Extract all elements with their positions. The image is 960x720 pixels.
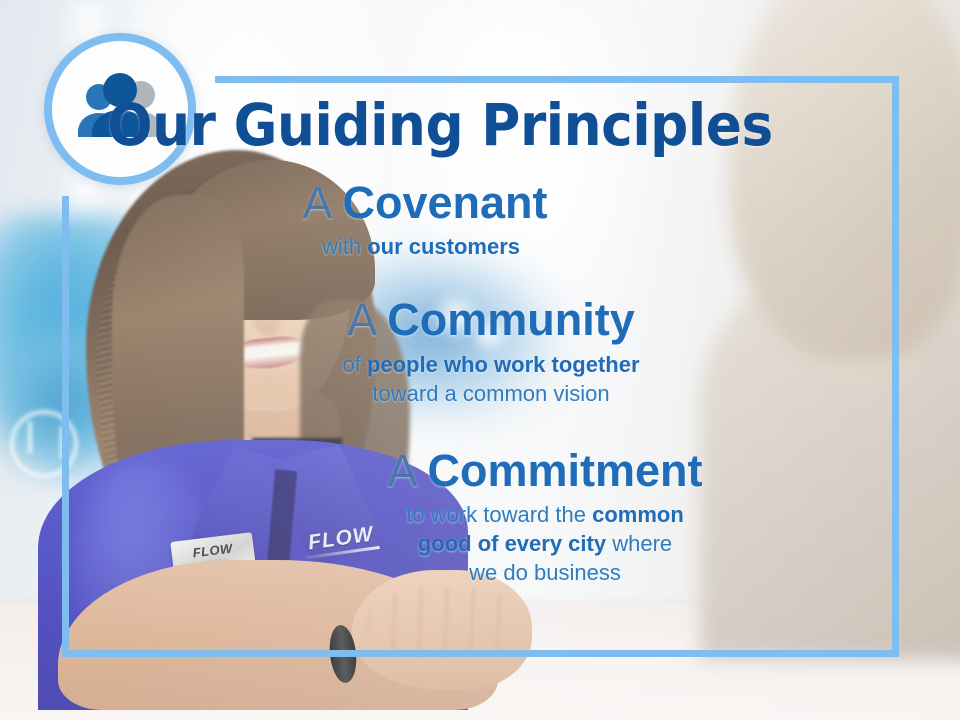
frame-border-right: [892, 76, 899, 657]
principle-title: A Commitment: [210, 446, 880, 496]
employee-fingers: [368, 588, 518, 658]
principle-keyword: Commitment: [428, 445, 703, 496]
principle-subtext: with our customers: [30, 232, 820, 261]
page-title: Our Guiding Principles: [35, 96, 845, 154]
principle-lead: A: [347, 294, 387, 345]
principle-lead: A: [387, 445, 427, 496]
principle-subtext: of people who work togethertoward a comm…: [102, 350, 880, 408]
principle-covenant: A Covenant with our customers: [30, 178, 880, 261]
principle-subtext: to work toward the commongood of every c…: [210, 500, 880, 587]
principle-title: A Community: [102, 295, 880, 345]
frame-border-top: [215, 76, 899, 83]
principle-keyword: Community: [387, 294, 635, 345]
frame-border-bottom: [62, 650, 899, 657]
principle-title: A Covenant: [30, 178, 820, 228]
guiding-principles-graphic: FLOW FLOW AUTOMOTIVE: [0, 0, 960, 720]
principles-list: A Covenant with our customers A Communit…: [30, 178, 880, 595]
principle-lead: A: [302, 177, 342, 228]
principle-keyword: Covenant: [343, 177, 548, 228]
principle-commitment: A Commitment to work toward the commongo…: [30, 446, 880, 587]
principle-community: A Community of people who work togethert…: [30, 295, 880, 407]
